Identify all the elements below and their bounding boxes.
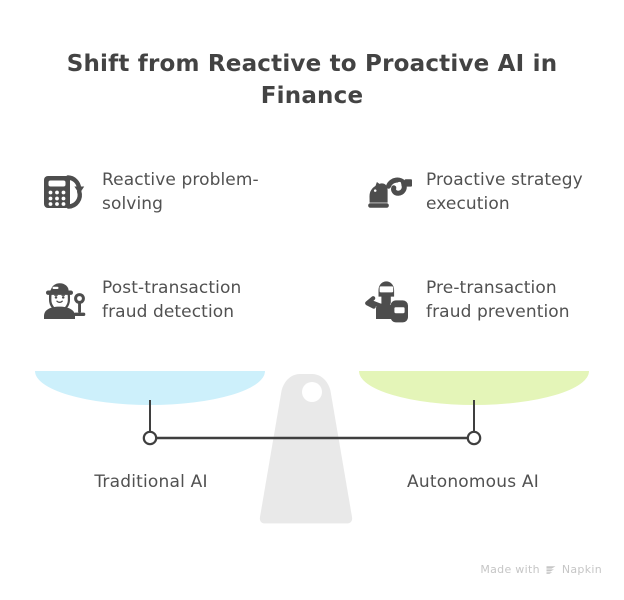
page-title: Shift from Reactive to Proactive AI in F… (62, 48, 562, 112)
left-beam-ring (144, 432, 156, 444)
left-pan-label: Traditional AI (51, 472, 251, 492)
watermark-prefix: Made with (480, 563, 540, 576)
feature-post-transaction-fraud-detection: Post-transaction fraud detection (38, 274, 262, 326)
right-pan (359, 371, 589, 405)
right-beam-ring (468, 432, 480, 444)
balance-scale-graphic (0, 355, 624, 555)
fulcrum-pivot-hole (302, 382, 322, 402)
right-pan-label: Autonomous AI (373, 472, 573, 492)
calculator-refresh-icon (38, 166, 90, 218)
guard-shield-icon (362, 274, 414, 326)
feature-label: Reactive problem-solving (102, 166, 262, 216)
feature-label: Post-transaction fraud detection (102, 274, 262, 324)
watermark-brand: Napkin (562, 563, 602, 576)
chess-knight-robot-arm-icon (362, 166, 414, 218)
napkin-logo-icon (545, 564, 557, 576)
feature-pre-transaction-fraud-prevention: Pre-transaction fraud prevention (362, 274, 596, 326)
feature-label: Pre-transaction fraud prevention (426, 274, 596, 324)
feature-proactive-strategy-execution: Proactive strategy execution (362, 166, 596, 218)
feature-reactive-problem-solving: Reactive problem-solving (38, 166, 262, 218)
left-pan (35, 371, 265, 405)
feature-label: Proactive strategy execution (426, 166, 596, 216)
napkin-watermark[interactable]: Made with Napkin (480, 563, 602, 576)
detective-magnifier-icon (38, 274, 90, 326)
